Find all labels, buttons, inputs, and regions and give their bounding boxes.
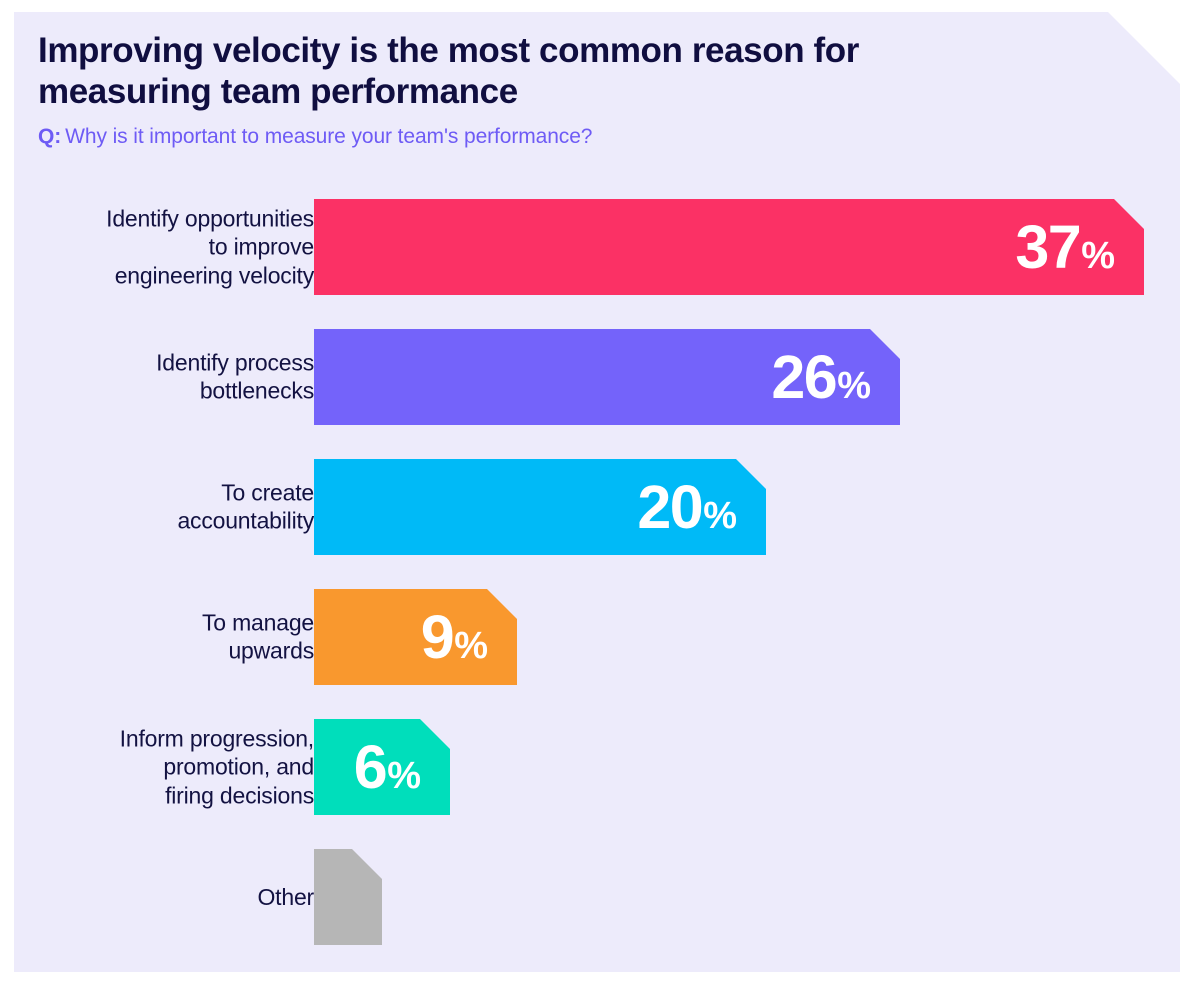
bar-value-label: 6% bbox=[354, 737, 450, 798]
bar-category-label: To manage upwards bbox=[0, 609, 314, 666]
chart-row: To manage upwards 9% bbox=[14, 572, 1180, 702]
bar-value-number: 9 bbox=[421, 607, 453, 668]
page-title: Improving velocity is the most common re… bbox=[38, 30, 1038, 113]
bar-category-label: Other bbox=[0, 883, 314, 911]
bar-value-label: 26% bbox=[771, 347, 900, 408]
chart-row: To create accountability 20% bbox=[14, 442, 1180, 572]
question-prefix: Q: bbox=[38, 125, 61, 148]
bar-category-label: Inform progression, promotion, and firin… bbox=[0, 725, 314, 810]
bar-segment[interactable]: 6% bbox=[314, 719, 450, 815]
bar-segment[interactable]: 20% bbox=[314, 459, 766, 555]
bar-value-suffix: % bbox=[454, 627, 487, 665]
chart-row: Inform progression, promotion, and firin… bbox=[14, 702, 1180, 832]
bar-value-number: 20 bbox=[637, 477, 702, 538]
question-text: Why is it important to measure your team… bbox=[65, 125, 592, 148]
bar-chart: Identify opportunities to improve engine… bbox=[14, 182, 1180, 962]
chart-header: Improving velocity is the most common re… bbox=[38, 30, 1038, 149]
bar-track: 20% bbox=[314, 442, 766, 572]
bar-category-label: To create accountability bbox=[0, 479, 314, 536]
bar-value-label: 20% bbox=[637, 477, 766, 538]
bar-category-label: Identify opportunities to improve engine… bbox=[0, 205, 314, 290]
bar-value-label: 37% bbox=[1015, 217, 1144, 278]
bar-value-number: 3 bbox=[400, 867, 432, 928]
bar-value-number: 6 bbox=[354, 737, 386, 798]
bar-value-suffix: % bbox=[837, 367, 870, 405]
bar-track: 37% bbox=[314, 182, 1144, 312]
bar-value-number: 26 bbox=[771, 347, 836, 408]
bar-segment[interactable]: 37% bbox=[314, 199, 1144, 295]
bar-track: 26% bbox=[314, 312, 900, 442]
bar-track: 6% bbox=[314, 702, 450, 832]
bar-value-number: 37 bbox=[1015, 217, 1080, 278]
bar-segment[interactable]: 3% bbox=[314, 849, 382, 945]
chart-row: Identify process bottlenecks 26% bbox=[14, 312, 1180, 442]
bar-value-suffix: % bbox=[703, 497, 736, 535]
chart-row: Identify opportunities to improve engine… bbox=[14, 182, 1180, 312]
bar-value-label: 9% bbox=[421, 607, 517, 668]
bar-segment[interactable]: 9% bbox=[314, 589, 517, 685]
bar-category-label: Identify process bottlenecks bbox=[0, 349, 314, 406]
bar-value-label: 3% bbox=[382, 867, 466, 928]
bar-value-suffix: % bbox=[433, 887, 466, 925]
chart-question: Q:Why is it important to measure your te… bbox=[38, 125, 1038, 149]
bar-track: 9% bbox=[314, 572, 517, 702]
bar-value-suffix: % bbox=[1081, 237, 1114, 275]
chart-card: Improving velocity is the most common re… bbox=[14, 12, 1180, 972]
bar-segment[interactable]: 26% bbox=[314, 329, 900, 425]
bar-value-suffix: % bbox=[387, 757, 420, 795]
chart-row: Other 3% bbox=[14, 832, 1180, 962]
bar-track: 3% bbox=[314, 832, 382, 962]
